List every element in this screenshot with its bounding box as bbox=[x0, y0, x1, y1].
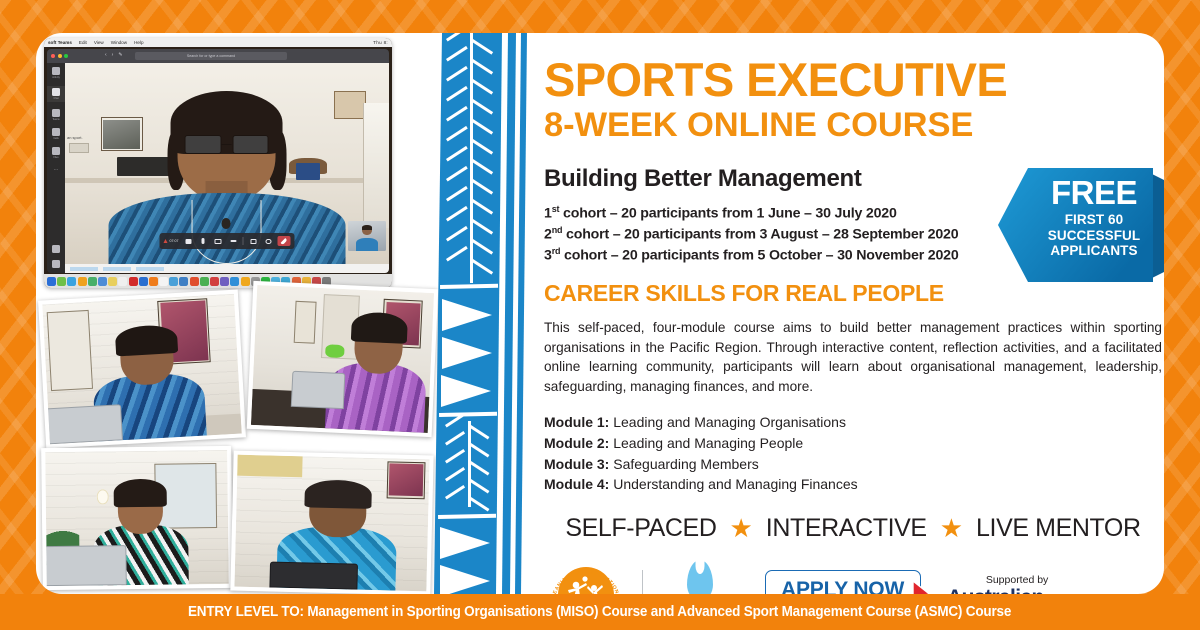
dock-icon-finder[interactable] bbox=[47, 277, 56, 286]
teams-nav-arrows[interactable]: ‹ › ✎ bbox=[105, 52, 123, 58]
compose-icon[interactable]: ✎ bbox=[118, 52, 122, 58]
free-badge-headline: FREE bbox=[1032, 176, 1156, 209]
module-2-desc: Leading and Managing People bbox=[613, 435, 803, 451]
phone-icon bbox=[52, 128, 60, 136]
photo2-poster bbox=[294, 301, 317, 344]
dock-icon-mail[interactable] bbox=[78, 277, 87, 286]
participant-photo-4 bbox=[230, 451, 433, 594]
content-panel: SPORTS EXECUTIVE 8-WEEK ONLINE COURSE Bu… bbox=[506, 33, 1164, 594]
rail-item-files[interactable]: Files bbox=[52, 147, 60, 159]
photo3-hair-flower bbox=[97, 490, 109, 505]
menu-item-edit[interactable]: Edit bbox=[79, 40, 87, 45]
free-badge-line2: SUCCESSFUL bbox=[1032, 228, 1156, 244]
teams-icon bbox=[52, 109, 60, 117]
module-row-3: Module 3: Safeguarding Members bbox=[544, 454, 1128, 475]
video-stage: an sport. 07:07 bbox=[65, 63, 389, 264]
rail-item-calls[interactable]: Calls bbox=[52, 128, 60, 140]
call-control-bar[interactable]: 07:07 bbox=[160, 233, 295, 249]
menu-app-name: soft Teams bbox=[48, 40, 72, 45]
teams-video-call-screenshot: soft Teams Edit View Window Help Thu 8: bbox=[44, 38, 392, 288]
close-icon[interactable] bbox=[51, 54, 55, 58]
recording-icon bbox=[164, 239, 168, 243]
presenter-glasses bbox=[185, 135, 269, 154]
dock-icon-photoshop[interactable] bbox=[169, 277, 178, 286]
rail-bottom-group[interactable] bbox=[52, 245, 60, 273]
dock-icon-acrobat[interactable] bbox=[129, 277, 138, 286]
cohort-1-text: cohort – 20 participants from 1 June – 3… bbox=[559, 205, 896, 221]
menu-item-window[interactable]: Window bbox=[111, 40, 127, 45]
supported-by-label: Supported by bbox=[947, 574, 1087, 586]
photo2-hair bbox=[351, 311, 408, 344]
dock-icon-folder[interactable] bbox=[108, 277, 117, 286]
cohort-2-suffix: nd bbox=[552, 225, 563, 235]
selfview-hair bbox=[362, 225, 373, 230]
rail-label-activity: Activity bbox=[52, 76, 60, 79]
rail-label-files: Files bbox=[53, 156, 58, 159]
logo-divider bbox=[642, 570, 643, 594]
apply-block: APPLY NOW www.oceanianoc.org/eosep bbox=[765, 570, 921, 594]
clock-label: Thu 8: bbox=[373, 40, 388, 45]
maximize-icon[interactable] bbox=[64, 54, 68, 58]
presenter-pendant bbox=[222, 218, 231, 229]
feature-interactive: INTERACTIVE bbox=[766, 514, 927, 543]
dock-icon-word[interactable] bbox=[179, 277, 188, 286]
dock-icon-chrome[interactable] bbox=[190, 277, 199, 286]
teams-bottom-tabs[interactable] bbox=[65, 264, 389, 273]
onoc-logo: ONOC OCEANIA NATIONAL OLYMPIC COMMITTEES bbox=[657, 558, 743, 594]
tapa-pattern-divider bbox=[428, 33, 540, 594]
participant-photo-1 bbox=[38, 290, 246, 449]
feature-self-paced: SELF-PACED bbox=[565, 514, 716, 543]
selfview-body bbox=[356, 238, 379, 251]
photo3-hair bbox=[114, 479, 167, 507]
dock-icon-notes[interactable] bbox=[88, 277, 97, 286]
dock-icon-teams[interactable] bbox=[220, 277, 229, 286]
help-icon bbox=[52, 260, 60, 268]
participant-photo-3 bbox=[41, 446, 233, 590]
course-description: This self-paced, four-module course aims… bbox=[544, 318, 1162, 398]
feature-live-mentor: LIVE MENTOR bbox=[976, 514, 1141, 543]
photo1-laptop bbox=[44, 404, 123, 444]
dock-icon-launchpad[interactable] bbox=[57, 277, 66, 286]
tab-thumb-1[interactable] bbox=[70, 267, 98, 271]
photo4-laptop bbox=[269, 561, 358, 590]
files-icon bbox=[52, 147, 60, 155]
show-conversation-button[interactable] bbox=[248, 236, 259, 246]
free-badge-line1: FIRST 60 bbox=[1032, 212, 1156, 228]
photo3-laptop bbox=[45, 545, 127, 586]
module-list: Module 1: Leading and Managing Organisat… bbox=[544, 412, 1128, 494]
store-icon bbox=[52, 245, 60, 253]
dock-icon-contacts[interactable] bbox=[98, 277, 107, 286]
participant-photo-2 bbox=[247, 281, 439, 437]
window-traffic-lights[interactable] bbox=[47, 54, 68, 58]
poster-card: soft Teams Edit View Window Help Thu 8: bbox=[36, 33, 1164, 594]
chat-thumbnail bbox=[69, 143, 89, 153]
rail-label-chat: Chat bbox=[53, 97, 58, 100]
dock-icon-outlook[interactable] bbox=[230, 277, 239, 286]
free-badge-line3: APPLICANTS bbox=[1032, 243, 1156, 259]
back-icon[interactable]: ‹ bbox=[105, 52, 107, 58]
module-4-label: Module 4: bbox=[544, 476, 609, 492]
rail-label-calls: Calls bbox=[53, 137, 58, 140]
hang-up-button[interactable] bbox=[278, 236, 291, 246]
call-timer-label: 07:07 bbox=[170, 239, 179, 243]
photo2-scene bbox=[251, 285, 434, 433]
module-row-1: Module 1: Leading and Managing Organisat… bbox=[544, 412, 1128, 433]
rail-item-help[interactable] bbox=[52, 260, 60, 268]
cohort-3-text: cohort – 20 participants from 5 October … bbox=[560, 248, 958, 264]
photo2-person bbox=[325, 300, 430, 433]
rail-label-teams: Teams bbox=[52, 118, 59, 121]
apply-now-button[interactable]: APPLY NOW bbox=[765, 570, 921, 594]
module-1-label: Module 1: bbox=[544, 414, 609, 430]
feature-highlights: SELF-PACED ★ INTERACTIVE ★ LIVE MENTOR bbox=[544, 514, 1162, 543]
teams-titlebar: ‹ › ✎ Search for or type a command bbox=[47, 49, 389, 63]
tab-thumb-2[interactable] bbox=[103, 267, 131, 271]
self-view-tile[interactable] bbox=[348, 221, 386, 251]
chat-message-text: an sport. bbox=[67, 135, 83, 140]
teams-search-input[interactable]: Search for or type a command bbox=[135, 52, 287, 60]
free-badge: FREE FIRST 60 SUCCESSFUL APPLICANTS bbox=[998, 166, 1164, 284]
module-4-desc: Understanding and Managing Finances bbox=[613, 476, 857, 492]
menu-item-view[interactable]: View bbox=[94, 40, 104, 45]
wall-art-frame bbox=[334, 91, 366, 119]
rail-item-store[interactable] bbox=[52, 245, 60, 253]
apply-now-label: APPLY NOW bbox=[781, 578, 904, 594]
cohort-2-text: cohort – 20 participants from 3 August –… bbox=[562, 227, 958, 243]
dock-icon-powerpoint[interactable] bbox=[210, 277, 219, 286]
star-icon-1: ★ bbox=[729, 515, 752, 541]
page-title-line2: 8-WEEK ONLINE COURSE bbox=[544, 108, 1128, 143]
bottom-banner-text: ENTRY LEVEL TO: Management in Sporting O… bbox=[188, 604, 1011, 620]
star-icon-2: ★ bbox=[940, 515, 963, 541]
photo3-scene bbox=[45, 450, 229, 586]
more-options-button[interactable] bbox=[228, 236, 239, 246]
osep-logo: OCEANIA SPORT EDUCATION PROGRAM OSEP bbox=[544, 559, 628, 594]
module-row-2: Module 2: Leading and Managing People bbox=[544, 433, 1128, 454]
wall-photo-frame bbox=[101, 117, 143, 151]
logo-row: OCEANIA SPORT EDUCATION PROGRAM OSEP ONO… bbox=[544, 557, 1164, 594]
dock-icon-preview[interactable] bbox=[159, 277, 168, 286]
rail-item-activity[interactable]: Activity bbox=[52, 67, 60, 79]
rail-item-teams[interactable]: Teams bbox=[52, 109, 60, 121]
cohort-3-ordinal: 3 bbox=[544, 248, 552, 264]
page-title-line1: SPORTS EXECUTIVE bbox=[544, 57, 1128, 103]
mac-menu-bar: soft Teams Edit View Window Help Thu 8: bbox=[44, 38, 392, 47]
callbar-divider bbox=[243, 237, 244, 245]
photo4-hair bbox=[305, 479, 372, 509]
rail-item-chat[interactable]: Chat bbox=[47, 86, 65, 102]
menu-item-help[interactable]: Help bbox=[134, 40, 143, 45]
tab-thumb-3[interactable] bbox=[136, 267, 164, 271]
cohort-1-ordinal: 1 bbox=[544, 205, 552, 221]
dock-icon-illustrator[interactable] bbox=[149, 277, 158, 286]
dock-icon-pages[interactable] bbox=[118, 277, 127, 286]
photo1-scene bbox=[42, 294, 242, 444]
rail-item-more[interactable]: ... bbox=[54, 166, 58, 172]
call-timer: 07:07 bbox=[164, 239, 179, 243]
module-2-label: Module 2: bbox=[544, 435, 609, 451]
show-participants-button[interactable] bbox=[263, 236, 274, 246]
bottom-banner: ENTRY LEVEL TO: Management in Sporting O… bbox=[0, 594, 1200, 630]
bell-icon bbox=[52, 67, 60, 75]
dock-icon-excel[interactable] bbox=[200, 277, 209, 286]
cursor-arrow-icon bbox=[911, 580, 933, 594]
share-screen-button[interactable] bbox=[213, 236, 224, 246]
teams-window: ‹ › ✎ Search for or type a command Activ… bbox=[47, 49, 389, 273]
onoc-flame-icon bbox=[687, 560, 713, 594]
free-badge-text: FREE FIRST 60 SUCCESSFUL APPLICANTS bbox=[1032, 176, 1156, 259]
photo1-hair bbox=[114, 324, 178, 357]
teams-left-rail[interactable]: Activity Chat Teams Calls bbox=[47, 63, 65, 273]
module-3-desc: Safeguarding Members bbox=[613, 456, 759, 472]
room-window bbox=[363, 103, 389, 228]
dock-icon-settings[interactable] bbox=[241, 277, 250, 286]
menu-bar-status-icons: Thu 8: bbox=[373, 40, 388, 45]
camera-toggle-button[interactable] bbox=[183, 236, 194, 246]
photo4-scene bbox=[234, 455, 429, 592]
module-3-label: Module 3: bbox=[544, 456, 609, 472]
dock-icon-safari[interactable] bbox=[67, 277, 76, 286]
module-1-desc: Leading and Managing Organisations bbox=[613, 414, 846, 430]
module-row-4: Module 4: Understanding and Managing Fin… bbox=[544, 474, 1128, 495]
minimize-icon[interactable] bbox=[58, 54, 62, 58]
ellipsis-icon: ... bbox=[54, 166, 58, 172]
cohort-2-ordinal: 2 bbox=[544, 227, 552, 243]
forward-icon[interactable]: › bbox=[112, 52, 114, 58]
australian-aid-logo: Supported by Australian Aid bbox=[947, 574, 1087, 594]
chat-icon bbox=[52, 88, 60, 96]
photo2-laptop bbox=[291, 371, 346, 410]
photo1-window bbox=[47, 310, 94, 391]
dock-icon-indesign[interactable] bbox=[139, 277, 148, 286]
microphone-toggle-button[interactable] bbox=[198, 236, 209, 246]
